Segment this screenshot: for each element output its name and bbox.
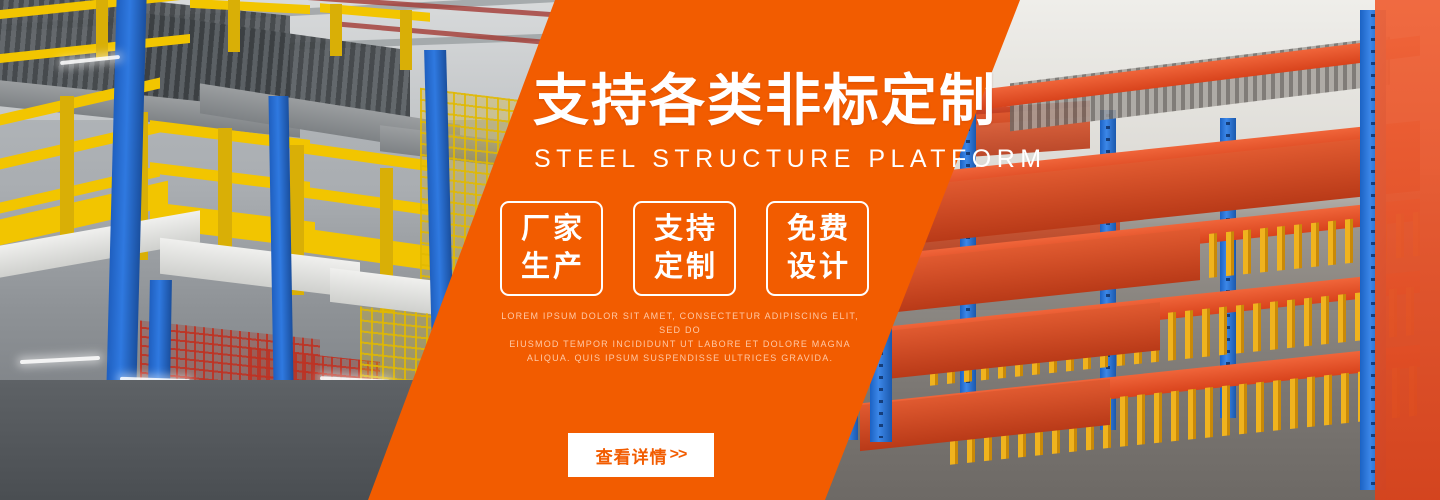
description-line-1: LOREM IPSUM DOLOR SIT AMET, CONSECTETUR … [500,310,860,338]
feature-badge-free-design: 免费 设计 [766,201,869,296]
cta-label: 查看详情 [596,443,668,468]
view-details-button[interactable]: 查看详情 >> [568,433,714,477]
badge-line-2: 生产 [518,249,585,286]
chevron-right-icon: >> [670,446,687,464]
badge-line-1: 支持 [651,211,718,248]
badge-line-2: 设计 [784,249,851,286]
feature-badge-customization: 支持 定制 [633,201,736,296]
description-line-3: ALIQUA. QUIS IPSUM SUSPENDISSE ULTRICES … [500,352,860,366]
badge-line-1: 免费 [784,211,851,248]
badge-line-2: 定制 [651,249,718,286]
description-text: LOREM IPSUM DOLOR SIT AMET, CONSECTETUR … [500,310,860,366]
subtitle: STEEL STRUCTURE PLATFORM [534,145,1047,174]
banner-content: 支持各类非标定制 STEEL STRUCTURE PLATFORM 厂家 生产 … [0,0,1440,500]
page-title: 支持各类非标定制 [533,73,997,129]
feature-badge-manufacturer: 厂家 生产 [500,201,603,296]
feature-badge-list: 厂家 生产 支持 定制 免费 设计 [500,201,869,296]
promo-banner: 支持各类非标定制 STEEL STRUCTURE PLATFORM 厂家 生产 … [0,0,1440,500]
badge-line-1: 厂家 [518,211,585,248]
description-line-2: EIUSMOD TEMPOR INCIDIDUNT UT LABORE ET D… [500,338,860,352]
